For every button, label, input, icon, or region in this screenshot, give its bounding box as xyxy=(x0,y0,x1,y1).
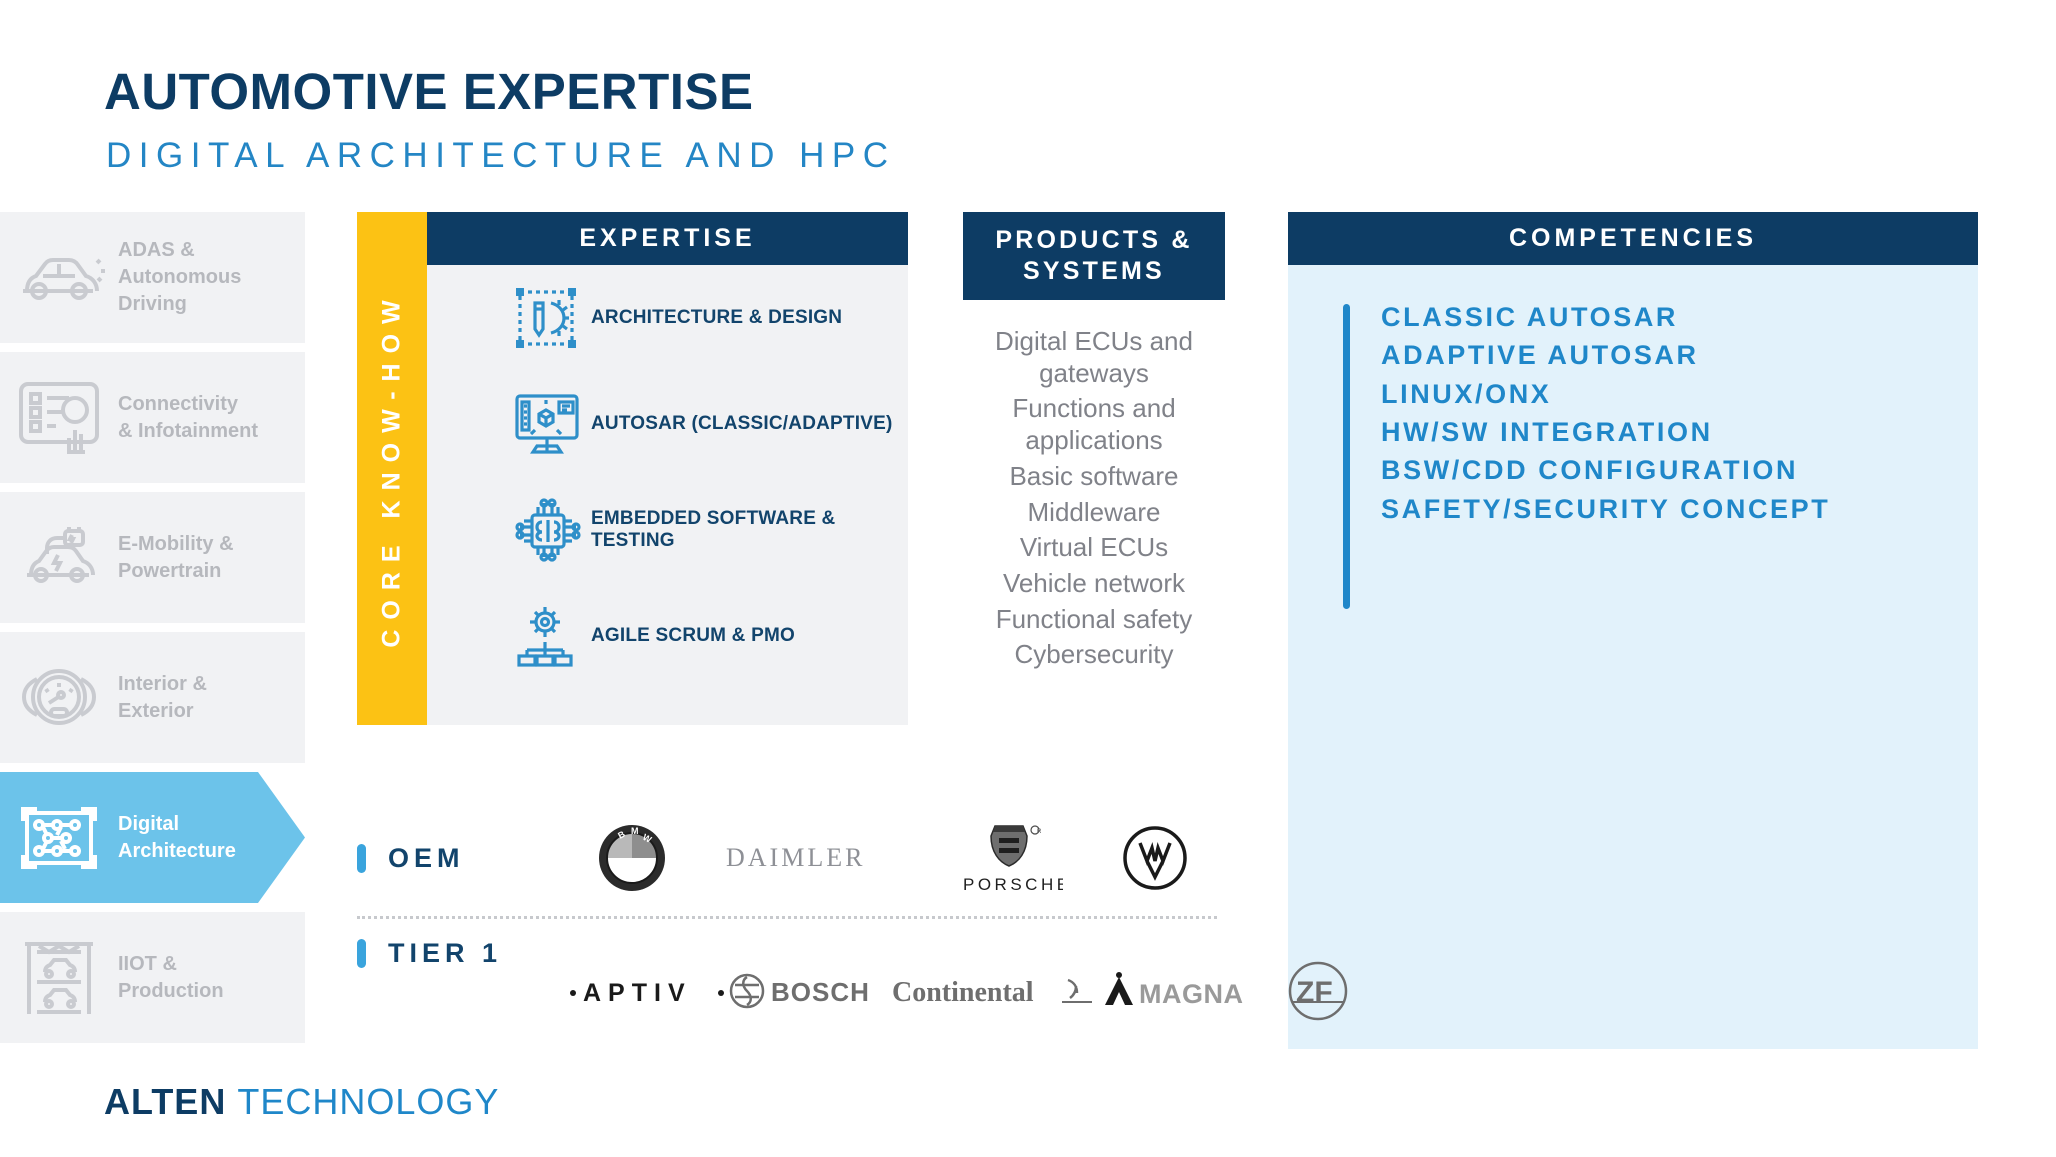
gear-hierarchy-icon xyxy=(513,604,591,668)
products-systems-list: Digital ECUs and gatewaysFunctions and a… xyxy=(963,326,1225,671)
products-systems-panel: PRODUCTS &SYSTEMS Digital ECUs and gatew… xyxy=(963,212,1225,675)
oem-label: OEM xyxy=(388,843,465,874)
sidebar-item-label: Interior &Exterior xyxy=(118,671,215,725)
expertise-row[interactable]: AGILE SCRUM & PMO xyxy=(427,583,908,689)
porsche-logo: RPORSCHE xyxy=(955,818,1063,898)
expertise-row-label: EMBEDDED SOFTWARE & TESTING xyxy=(591,508,908,552)
dashboard-gauge-icon xyxy=(0,663,118,733)
tier1-logos: APTIVBOSCHContinentalMAGNAZF xyxy=(567,960,1217,1022)
core-know-how-spine: CORE KNOW-HOW xyxy=(357,212,427,725)
touchscreen-hand-icon xyxy=(0,380,118,456)
expertise-row[interactable]: ARCHITECTURE & DESIGN xyxy=(427,265,908,371)
product-item: Functions and applications xyxy=(963,393,1225,456)
svg-text:PORSCHE: PORSCHE xyxy=(963,875,1063,894)
sidebar-item-connectivity[interactable]: Connectivity& Infotainment xyxy=(0,352,305,483)
sidebar-item-label: Connectivity& Infotainment xyxy=(118,391,266,445)
oem-row: OEM BMWDAIMLERRPORSCHE xyxy=(357,812,1217,904)
svg-text:ZF: ZF xyxy=(1296,976,1333,1009)
sidebar-item-iiot[interactable]: IIOT &Production xyxy=(0,912,305,1043)
sidebar-item-adas[interactable]: ADAS &AutonomousDriving xyxy=(0,212,305,343)
chip-brain-icon xyxy=(513,496,591,564)
expertise-row[interactable]: AUTOSAR (CLASSIC/ADAPTIVE) xyxy=(427,371,908,477)
factory-rack-icon xyxy=(0,938,118,1018)
expertise-header: EXPERTISE xyxy=(427,212,908,265)
sidebar-item-interior[interactable]: Interior &Exterior xyxy=(0,632,305,763)
svg-text:MAGNA: MAGNA xyxy=(1139,979,1244,1009)
tier1-label: TIER 1 xyxy=(388,938,502,969)
zf-logo: ZF xyxy=(1287,960,1349,1022)
competencies-header: COMPETENCIES xyxy=(1288,212,1978,265)
daimler-logo: DAIMLER xyxy=(726,841,896,875)
expertise-row-label: AUTOSAR (CLASSIC/ADAPTIVE) xyxy=(591,413,892,435)
oem-logos: BMWDAIMLERRPORSCHE xyxy=(567,818,1217,898)
svg-text:R: R xyxy=(1037,829,1042,835)
product-item: Virtual ECUs xyxy=(963,532,1225,564)
magna-logo: MAGNA xyxy=(1097,971,1287,1011)
sidebar-item-digital[interactable]: DigitalArchitecture xyxy=(0,772,305,903)
sidebar-item-label: IIOT &Production xyxy=(118,951,232,1005)
aptiv-logo: APTIV xyxy=(567,975,727,1007)
expertise-row-label: ARCHITECTURE & DESIGN xyxy=(591,307,842,329)
continental-logo: Continental xyxy=(892,972,1097,1010)
slide-root: AUTOMOTIVE EXPERTISE DIGITAL ARCHITECTUR… xyxy=(0,0,2056,1157)
expertise-body: EXPERTISE ARCHITECTURE & DESIGNAUTOSAR (… xyxy=(427,212,908,725)
page-subtitle: DIGITAL ARCHITECTURE AND HPC xyxy=(106,136,896,176)
tier1-accent-bar xyxy=(357,939,366,968)
car-sensor-icon xyxy=(0,247,118,309)
pencil-gear-blueprint-icon xyxy=(513,285,591,351)
expertise-row-label: AGILE SCRUM & PMO xyxy=(591,625,795,647)
expertise-rows: ARCHITECTURE & DESIGNAUTOSAR (CLASSIC/AD… xyxy=(427,265,908,689)
product-item: Digital ECUs and gateways xyxy=(963,326,1225,389)
partners-section: OEM BMWDAIMLERRPORSCHE TIER 1 APTIVBOSCH… xyxy=(357,812,1217,1030)
brand-logo: ALTEN TECHNOLOGY xyxy=(104,1081,499,1123)
products-systems-header: PRODUCTS &SYSTEMS xyxy=(963,212,1225,300)
vw-logo xyxy=(1122,825,1188,891)
network-nodes-icon xyxy=(0,799,118,877)
domain-sidebar: ADAS &AutonomousDrivingConnectivity& Inf… xyxy=(0,212,305,1052)
product-item: Basic software xyxy=(963,461,1225,493)
competency-item: SAFETY/SECURITY CONCEPT xyxy=(1381,490,1830,528)
partners-divider xyxy=(357,916,1217,919)
product-item: Vehicle network xyxy=(963,568,1225,600)
sidebar-item-label: ADAS &AutonomousDriving xyxy=(118,237,249,318)
ev-charging-car-icon xyxy=(0,527,118,589)
sidebar-item-label: E-Mobility &Powertrain xyxy=(118,531,242,585)
product-item: Functional safety xyxy=(963,604,1225,636)
brand-technology: TECHNOLOGY xyxy=(237,1081,499,1122)
svg-text:DAIMLER: DAIMLER xyxy=(726,843,865,872)
product-item: Cybersecurity xyxy=(963,639,1225,671)
core-know-how-label: CORE KNOW-HOW xyxy=(378,290,407,647)
expertise-panel: CORE KNOW-HOW EXPERTISE ARCHITECTURE & D… xyxy=(357,212,908,725)
competency-item: LINUX/ONX xyxy=(1381,375,1830,413)
monitor-3d-cube-icon xyxy=(513,392,591,456)
sidebar-item-e-mobility[interactable]: E-Mobility &Powertrain xyxy=(0,492,305,623)
svg-text:APTIV: APTIV xyxy=(583,979,692,1007)
svg-text:Continental: Continental xyxy=(892,977,1034,1008)
competencies-list: CLASSIC AUTOSARADAPTIVE AUTOSARLINUX/ONX… xyxy=(1343,298,1830,528)
page-title: AUTOMOTIVE EXPERTISE xyxy=(104,62,754,121)
bmw-logo: BMW xyxy=(597,823,667,893)
competency-item: HW/SW INTEGRATION xyxy=(1381,413,1830,451)
svg-text:M: M xyxy=(631,826,639,836)
oem-tag: OEM xyxy=(357,843,567,874)
brand-alten: ALTEN xyxy=(104,1081,226,1122)
competency-item: CLASSIC AUTOSAR xyxy=(1381,298,1830,336)
product-item: Middleware xyxy=(963,497,1225,529)
competency-item: ADAPTIVE AUTOSAR xyxy=(1381,336,1830,374)
oem-accent-bar xyxy=(357,844,366,873)
expertise-row[interactable]: EMBEDDED SOFTWARE & TESTING xyxy=(427,477,908,583)
competencies-panel: COMPETENCIES CLASSIC AUTOSARADAPTIVE AUT… xyxy=(1288,212,1978,1049)
bosch-logo: BOSCH xyxy=(727,971,892,1011)
sidebar-item-label: DigitalArchitecture xyxy=(118,811,244,865)
svg-text:BOSCH: BOSCH xyxy=(771,977,870,1007)
competency-item: BSW/CDD CONFIGURATION xyxy=(1381,451,1830,489)
tier1-tag: TIER 1 xyxy=(357,938,567,969)
